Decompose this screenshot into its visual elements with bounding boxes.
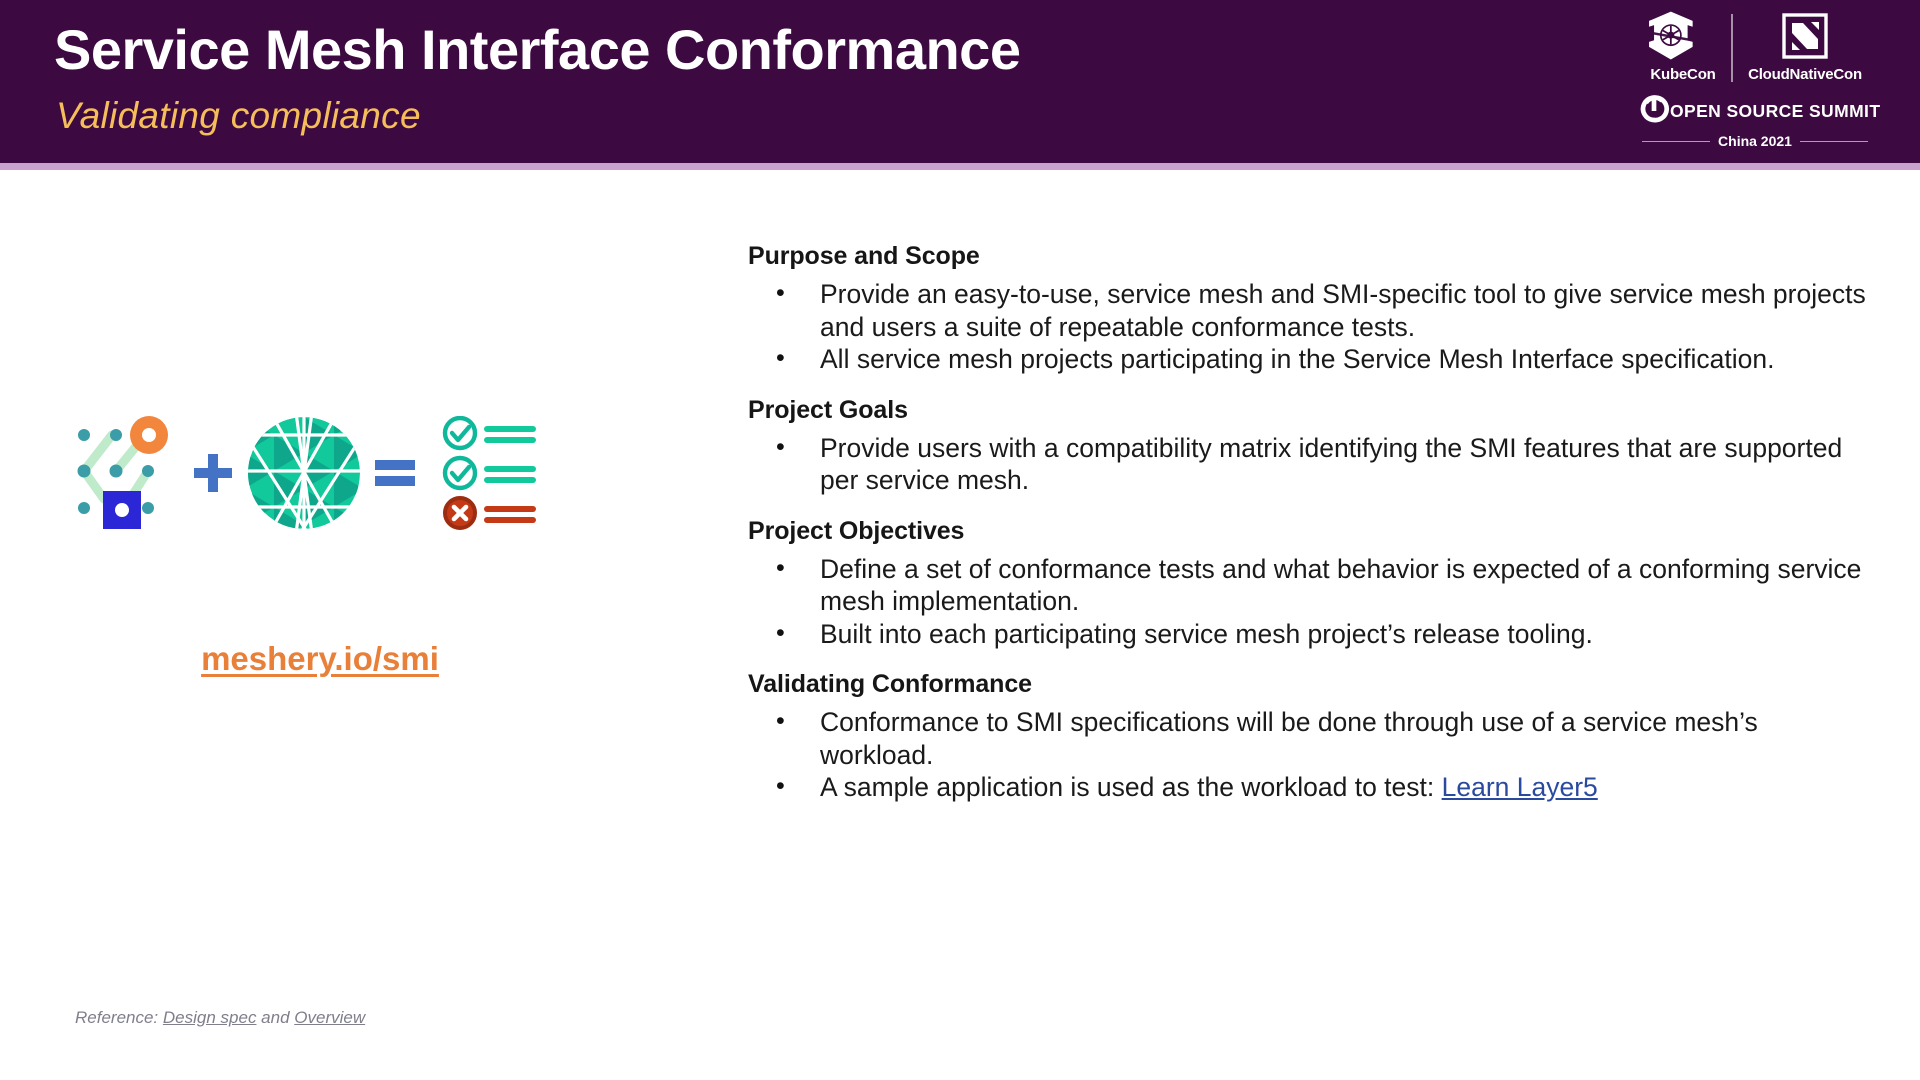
reference-label: Reference: xyxy=(75,1008,163,1027)
design-spec-link[interactable]: Design spec xyxy=(163,1008,257,1027)
list-item: All service mesh projects participating … xyxy=(748,343,1878,376)
list-item: Conformance to SMI specifications will b… xyxy=(748,706,1878,771)
logo-separator xyxy=(1731,14,1733,82)
list-item: Provide users with a compatibility matri… xyxy=(748,432,1878,497)
meshery-smi-link[interactable]: meshery.io/smi xyxy=(60,640,580,678)
reference-footer: Reference: Design spec and Overview xyxy=(75,1008,365,1028)
list-item: Provide an easy-to-use, service mesh and… xyxy=(748,278,1878,343)
page-title: Service Mesh Interface Conformance xyxy=(54,17,1020,82)
bullet-list-validating-conformance: Conformance to SMI specifications will b… xyxy=(748,706,1878,804)
open-source-summit-label: OPEN SOURCE SUMMIT xyxy=(1670,101,1880,122)
learn-layer5-link[interactable]: Learn Layer5 xyxy=(1442,772,1598,802)
year-rule-right xyxy=(1800,141,1868,142)
year-rule-left xyxy=(1642,141,1710,142)
list-item: Define a set of conformance tests and wh… xyxy=(748,553,1878,618)
header-divider xyxy=(0,163,1920,170)
conformance-formula-graphic xyxy=(60,408,640,538)
bullet-list-project-goals: Provide users with a compatibility matri… xyxy=(748,432,1878,497)
cloudnativecon-square-icon xyxy=(1781,12,1829,60)
list-item-text: A sample application is used as the work… xyxy=(820,772,1442,802)
kubecon-logo: KubeCon xyxy=(1644,10,1722,83)
bullet-list-project-objectives: Define a set of conformance tests and wh… xyxy=(748,553,1878,651)
kubernetes-helm-icon xyxy=(1644,10,1698,62)
bullet-list-purpose-and-scope: Provide an easy-to-use, service mesh and… xyxy=(748,278,1878,376)
cloudnativecon-label: CloudNativeCon xyxy=(1742,66,1868,83)
event-year-label: China 2021 xyxy=(1718,133,1792,149)
open-source-summit-logo: OPEN SOURCE SUMMIT xyxy=(1636,92,1872,130)
plus-operator xyxy=(182,451,244,495)
cloudnativecon-logo: CloudNativeCon xyxy=(1742,10,1868,83)
section-heading-validating-conformance: Validating Conformance xyxy=(748,670,1878,699)
section-heading-project-goals: Project Goals xyxy=(748,396,1878,425)
meshery-logo-icon xyxy=(60,413,182,533)
section-heading-purpose-and-scope: Purpose and Scope xyxy=(748,242,1878,271)
conformance-results-icon xyxy=(440,416,545,531)
kubecon-label: KubeCon xyxy=(1644,66,1722,83)
section-heading-project-objectives: Project Objectives xyxy=(748,517,1878,546)
event-logo: KubeCon CloudNativeCon OPEN SOURCE SUMMI… xyxy=(1634,8,1872,156)
reference-conjunction: and xyxy=(256,1008,294,1027)
slide: Service Mesh Interface Conformance Valid… xyxy=(0,0,1920,1080)
content-body: Purpose and Scope Provide an easy-to-use… xyxy=(748,242,1878,804)
page-subtitle: Validating compliance xyxy=(56,95,421,137)
logo-year-row: China 2021 xyxy=(1642,133,1868,149)
equals-icon xyxy=(372,457,418,489)
overview-link[interactable]: Overview xyxy=(294,1008,365,1027)
list-item: Built into each participating service me… xyxy=(748,618,1878,651)
open-source-summit-s-icon xyxy=(1636,92,1672,130)
equals-operator xyxy=(364,457,426,489)
list-item: A sample application is used as the work… xyxy=(748,771,1878,804)
logo-top-row: KubeCon CloudNativeCon xyxy=(1634,8,1872,96)
smi-sphere-icon xyxy=(244,413,364,533)
plus-icon xyxy=(191,451,235,495)
